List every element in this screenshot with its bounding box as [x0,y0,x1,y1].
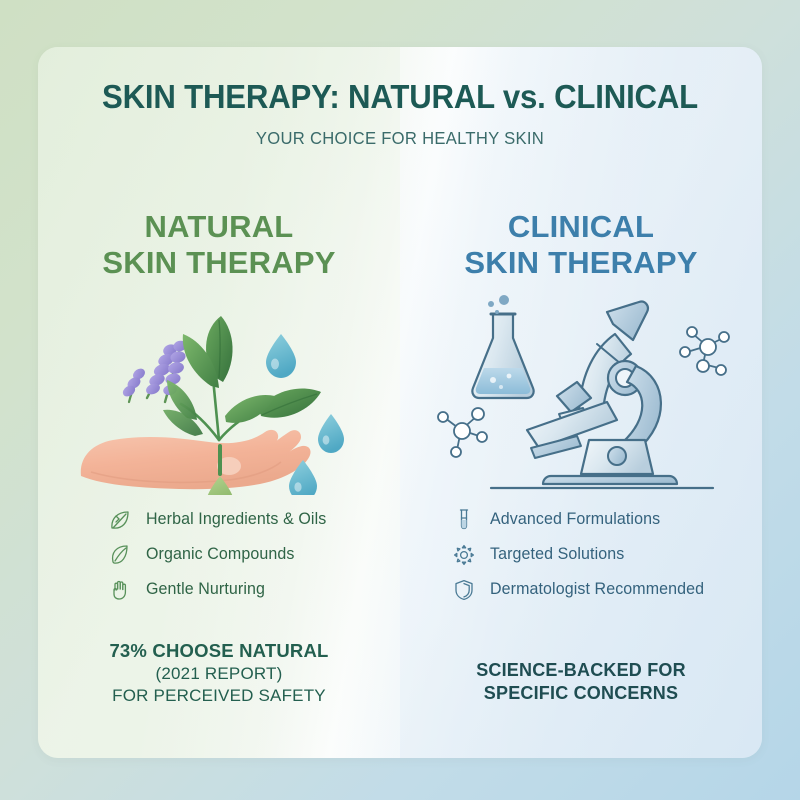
list-item-label: Advanced Formulations [490,510,660,529]
list-item-label: Herbal Ingredients & Oils [146,510,326,529]
stat-natural: 73% CHOOSE NATURAL (2021 REPORT) FOR PER… [38,640,400,706]
gear-icon [451,542,477,568]
molecule-top-right [680,327,729,375]
stat-line-1: 73% CHOOSE NATURAL [38,640,400,662]
bullet-list-natural: Herbal Ingredients & Oils Organic Compou… [107,507,332,603]
list-item-label: Gentle Nurturing [146,580,265,599]
column-title-natural: NATURAL SKIN THERAPY [102,195,335,282]
erlenmeyer-flask [472,295,533,398]
list-item[interactable]: Herbal Ingredients & Oils [107,507,332,533]
stat-line-2: (2021 REPORT) [38,664,400,684]
infographic-canvas: SKIN THERAPY: NATURAL vs. CLINICAL YOUR … [0,0,800,800]
stat-line-1: SCIENCE-BACKED FOR [400,659,762,683]
column-title-clinical: CLINICAL SKIN THERAPY [464,195,697,282]
header: SKIN THERAPY: NATURAL vs. CLINICAL YOUR … [38,79,762,149]
open-hand-icon [107,577,133,603]
leaf-veined-icon [107,507,133,533]
leaf-icon [107,542,133,568]
list-item[interactable]: Advanced Formulations [451,507,711,533]
page-title: SKIN THERAPY: NATURAL vs. CLINICAL [63,79,736,117]
list-item[interactable]: Targeted Solutions [451,542,711,568]
list-item-label: Dermatologist Recommended [490,580,704,599]
list-item-label: Targeted Solutions [490,545,624,564]
stat-line-3: FOR PERCEIVED SAFETY [38,686,400,706]
microscope-flask-molecule-illustration [431,290,731,495]
column-clinical: CLINICAL SKIN THERAPY [400,195,762,758]
page-subtitle: YOUR CHOICE FOR HEALTHY SKIN [56,128,744,149]
molecule-bottom-left [438,408,487,457]
comparison-columns: NATURAL SKIN THERAPY [38,195,762,758]
column-natural: NATURAL SKIN THERAPY [38,195,400,758]
infographic-card: SKIN THERAPY: NATURAL vs. CLINICAL YOUR … [38,47,762,758]
bullet-list-clinical: Advanced Formulations [451,507,711,603]
list-item-label: Organic Compounds [146,545,294,564]
cupped-hand [81,429,311,488]
stat-clinical: SCIENCE-BACKED FOR SPECIFIC CONCERNS [400,659,762,707]
green-leaves [163,316,321,436]
list-item[interactable]: Organic Compounds [107,542,332,568]
shield-icon [451,577,477,603]
list-item[interactable]: Gentle Nurturing [107,577,332,603]
test-tube-icon [451,507,477,533]
list-item[interactable]: Dermatologist Recommended [451,577,711,603]
hand-holding-herbs-illustration [69,290,369,495]
stat-line-2: SPECIFIC CONCERNS [400,682,762,706]
